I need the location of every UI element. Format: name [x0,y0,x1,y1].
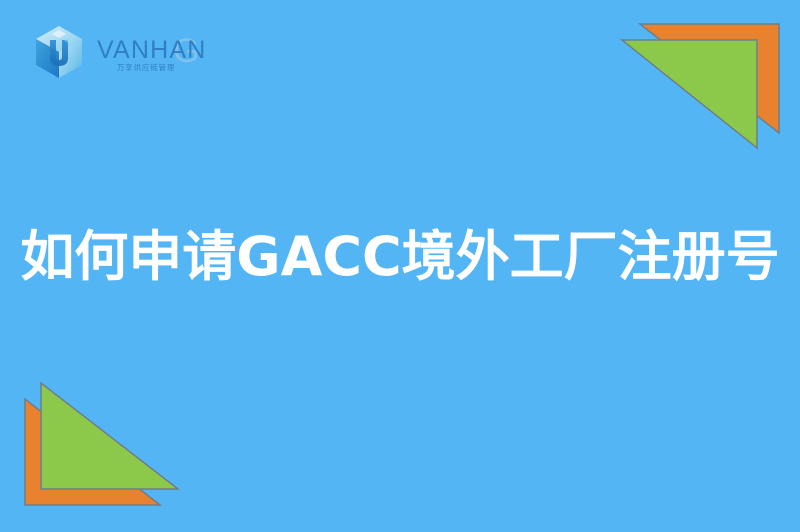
poster-canvas: G VANHAN 万享供应链管理 如何申请GACC境外工厂注册号 [0,0,800,532]
logo-subtitle: 万享供应链管理 [117,62,175,72]
logo-wordmark: G VANHAN 万享供应链管理 [95,24,215,80]
logo-text-block: G VANHAN 万享供应链管理 [95,24,215,80]
brand-logo[interactable]: G VANHAN 万享供应链管理 [33,22,215,82]
orange-triangle-bottom-left [25,399,160,505]
page-title: 如何申请GACC境外工厂注册号 [0,221,800,293]
cube-u-logo-icon [33,24,85,80]
orange-triangle-top-right [640,24,779,133]
green-triangle-bottom-left [41,383,178,489]
green-triangle-top-right [622,40,757,148]
logo-brand-name: VANHAN [97,36,207,64]
